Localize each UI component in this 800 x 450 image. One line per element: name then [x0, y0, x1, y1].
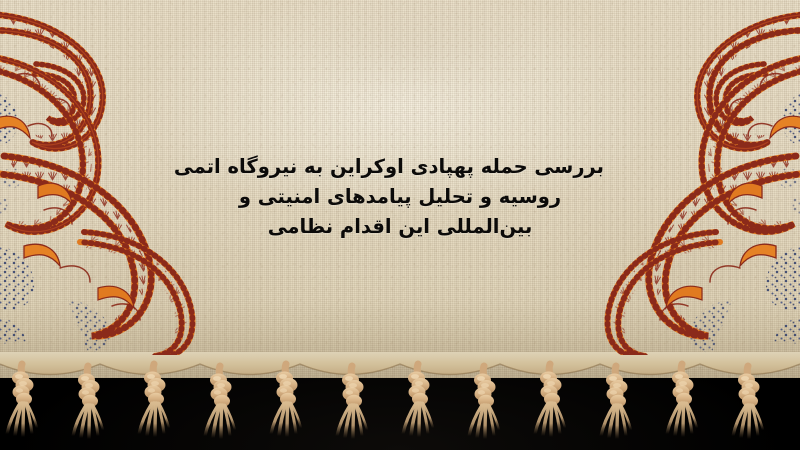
title-line-3: بین‌المللی این اقدام نظامی — [196, 212, 604, 242]
title-line-1: بررسی حمله پهپادی اوکراین به نیروگاه اتم… — [196, 152, 604, 182]
slide-title: بررسی حمله پهپادی اوکراین به نیروگاه اتم… — [196, 152, 604, 242]
paisley-boteh-embroidery-right — [591, 0, 800, 355]
title-line-2: روسیه و تحلیل پیامدهای امنیتی و — [196, 182, 604, 212]
slide-canvas: بررسی حمله پهپادی اوکراین به نیروگاه اتم… — [0, 0, 800, 450]
knotted-tassel-fringe — [0, 356, 800, 450]
